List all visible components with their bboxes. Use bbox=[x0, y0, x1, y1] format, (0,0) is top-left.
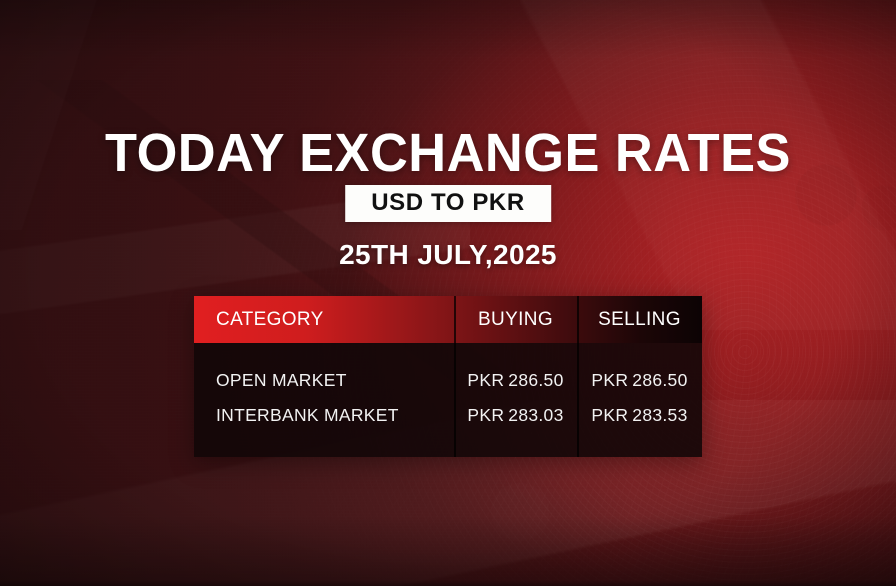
column-header-buying: BUYING bbox=[454, 296, 577, 343]
buying-currency-code: PKR bbox=[467, 370, 504, 391]
column-header-category: CATEGORY bbox=[194, 296, 454, 343]
buying-currency-code: PKR bbox=[467, 405, 504, 426]
exchange-rate-poster: TODAY EXCHANGE RATES USD TO PKR 25TH JUL… bbox=[0, 0, 896, 586]
buying-value: 283.03 bbox=[508, 405, 563, 426]
cell-selling: PKR 286.50 bbox=[577, 363, 702, 398]
selling-currency-code: PKR bbox=[591, 405, 628, 426]
table-header-row: CATEGORY BUYING SELLING bbox=[194, 296, 702, 343]
selling-value: 286.50 bbox=[632, 370, 687, 391]
cell-buying: PKR 286.50 bbox=[454, 363, 577, 398]
rate-date: 25TH JULY,2025 bbox=[0, 239, 896, 271]
cell-category: OPEN MARKET bbox=[194, 363, 454, 398]
exchange-rates-table: CATEGORY BUYING SELLING OPEN MARKET PKR … bbox=[194, 296, 702, 457]
poster-content: TODAY EXCHANGE RATES USD TO PKR 25TH JUL… bbox=[0, 0, 896, 586]
table-row: OPEN MARKET PKR 286.50 PKR 286.50 bbox=[194, 363, 702, 398]
table-row: INTERBANK MARKET PKR 283.03 PKR 283.53 bbox=[194, 398, 702, 433]
cell-selling: PKR 283.53 bbox=[577, 398, 702, 433]
cell-category: INTERBANK MARKET bbox=[194, 398, 454, 433]
selling-value: 283.53 bbox=[632, 405, 687, 426]
buying-value: 286.50 bbox=[508, 370, 563, 391]
table-body: OPEN MARKET PKR 286.50 PKR 286.50 INTERB… bbox=[194, 343, 702, 457]
page-title: TODAY EXCHANGE RATES bbox=[13, 126, 882, 180]
cell-buying: PKR 283.03 bbox=[454, 398, 577, 433]
column-header-selling: SELLING bbox=[577, 296, 702, 343]
selling-currency-code: PKR bbox=[591, 370, 628, 391]
currency-pair-badge: USD TO PKR bbox=[345, 185, 551, 222]
